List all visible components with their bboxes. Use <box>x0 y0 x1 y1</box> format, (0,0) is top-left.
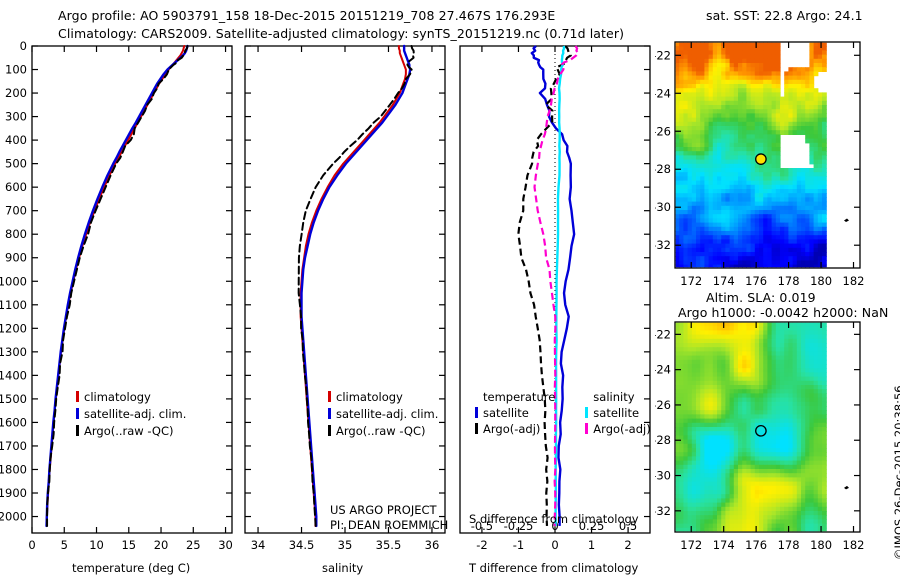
legend-item-climatology: climatology <box>76 390 186 404</box>
svg-text:1400: 1400 <box>0 368 27 382</box>
svg-text:15: 15 <box>121 538 136 552</box>
credit-pi: PI: DEAN ROEMMICH <box>330 518 448 532</box>
svg-text:1: 1 <box>588 538 595 552</box>
svg-text:0: 0 <box>551 538 558 552</box>
svg-text:100: 100 <box>5 63 27 77</box>
temperature-panel: 0100200300400500600700800900100011001200… <box>0 0 240 580</box>
sst-map-plot[interactable]: 172174176178180182-22-24-26-28-30-32 <box>655 0 900 290</box>
svg-text:1900: 1900 <box>0 486 27 500</box>
legend-swatch-sal-satellite <box>585 407 588 418</box>
svg-text:1700: 1700 <box>0 439 27 453</box>
svg-text:1300: 1300 <box>0 345 27 359</box>
legend-item-temp-satellite: satellite <box>475 406 555 420</box>
difference-axis-label-bottom: T difference from climatology <box>469 561 638 575</box>
salinity-axis-label: salinity <box>322 561 363 575</box>
svg-text:30: 30 <box>218 538 233 552</box>
credit-project: US ARGO PROJECT <box>330 503 448 517</box>
svg-text:400: 400 <box>5 133 27 147</box>
legend-swatch-climatology <box>76 391 79 402</box>
svg-text:34.5: 34.5 <box>289 538 315 552</box>
legend-group-title-salinity: salinity <box>593 390 650 404</box>
credit-block: US ARGO PROJECT PI: DEAN ROEMMICH <box>330 503 448 532</box>
legend-swatch-argo-raw-sal <box>328 425 331 436</box>
sla-map-plot[interactable]: 172174176178180182-22-24-26-28-30-32 <box>655 280 900 580</box>
svg-text:900: 900 <box>5 251 27 265</box>
legend-swatch-argo-raw <box>76 425 79 436</box>
svg-text:2: 2 <box>624 538 631 552</box>
svg-text:172: 172 <box>680 538 702 552</box>
legend-item-argo-raw: Argo(..raw -QC) <box>76 424 186 438</box>
svg-text:-24: -24 <box>655 86 671 100</box>
svg-text:-30: -30 <box>655 469 671 483</box>
temperature-axis-label: temperature (deg C) <box>72 561 190 575</box>
svg-text:5: 5 <box>61 538 68 552</box>
svg-text:35.5: 35.5 <box>376 538 402 552</box>
svg-text:-32: -32 <box>655 238 671 252</box>
temperature-legend: climatology satellite-adj. clim. Argo(..… <box>76 390 186 438</box>
difference-axis-label-top: S difference from climatology <box>469 512 639 526</box>
svg-text:1600: 1600 <box>0 415 27 429</box>
sst-map-panel: 172174176178180182-22-24-26-28-30-32 <box>655 0 900 290</box>
svg-text:500: 500 <box>5 157 27 171</box>
legend-item-sal-satellite: satellite <box>585 406 650 420</box>
svg-text:1500: 1500 <box>0 392 27 406</box>
svg-text:2000: 2000 <box>0 510 27 524</box>
svg-text:182: 182 <box>843 538 865 552</box>
svg-text:-30: -30 <box>655 200 671 214</box>
legend-swatch-temp-satellite <box>475 407 478 418</box>
legend-item-argo-raw-sal: Argo(..raw -QC) <box>328 424 438 438</box>
svg-text:800: 800 <box>5 227 27 241</box>
svg-text:-24: -24 <box>655 363 671 377</box>
difference-panel: -2-1012-0.5-0.2500.250.5 <box>455 0 660 580</box>
legend-group-title-temperature: temperature <box>483 390 555 404</box>
salinity-legend: climatology satellite-adj. clim. Argo(..… <box>328 390 438 438</box>
svg-text:-2: -2 <box>476 538 487 552</box>
legend-swatch-temp-argo <box>475 423 478 434</box>
difference-legend: temperature satellite Argo(-adj) salinit… <box>475 390 651 436</box>
salinity-panel: 3434.53535.536 <box>240 0 455 580</box>
svg-text:1800: 1800 <box>0 462 27 476</box>
legend-item-satellite-adj-sal: satellite-adj. clim. <box>328 407 438 421</box>
svg-text:1000: 1000 <box>0 274 27 288</box>
svg-text:0: 0 <box>20 39 27 53</box>
legend-group-salinity: salinity satellite Argo(-adj) <box>585 390 650 436</box>
legend-item-temp-argo: Argo(-adj) <box>475 422 555 436</box>
svg-text:10: 10 <box>89 538 104 552</box>
svg-text:-32: -32 <box>655 504 671 518</box>
svg-text:20: 20 <box>154 538 169 552</box>
svg-text:0: 0 <box>28 538 35 552</box>
legend-swatch-satellite-adj-sal <box>328 408 331 419</box>
legend-swatch-satellite-adj <box>76 408 79 419</box>
svg-text:-28: -28 <box>655 162 671 176</box>
legend-group-temperature: temperature satellite Argo(-adj) <box>475 390 555 436</box>
svg-text:-22: -22 <box>655 48 671 62</box>
svg-text:-26: -26 <box>655 124 671 138</box>
legend-swatch-sal-argo <box>585 423 588 434</box>
svg-text:176: 176 <box>745 538 767 552</box>
svg-text:600: 600 <box>5 180 27 194</box>
svg-text:35: 35 <box>338 538 353 552</box>
svg-text:200: 200 <box>5 86 27 100</box>
svg-text:174: 174 <box>713 538 735 552</box>
sla-map-panel: 172174176178180182-22-24-26-28-30-32 <box>655 280 900 580</box>
svg-text:178: 178 <box>778 538 800 552</box>
svg-text:1200: 1200 <box>0 321 27 335</box>
svg-text:700: 700 <box>5 204 27 218</box>
legend-item-satellite-adj: satellite-adj. clim. <box>76 407 186 421</box>
svg-text:180: 180 <box>810 538 832 552</box>
svg-text:-26: -26 <box>655 398 671 412</box>
svg-text:34: 34 <box>251 538 266 552</box>
difference-plot[interactable]: -2-1012-0.5-0.2500.250.5 <box>455 0 660 580</box>
svg-text:-1: -1 <box>513 538 524 552</box>
svg-text:36: 36 <box>425 538 440 552</box>
legend-item-climatology-sal: climatology <box>328 390 438 404</box>
svg-text:-28: -28 <box>655 433 671 447</box>
svg-text:300: 300 <box>5 110 27 124</box>
salinity-plot[interactable]: 3434.53535.536 <box>240 0 455 580</box>
legend-item-sal-argo: Argo(-adj) <box>585 422 650 436</box>
imos-credit: ©IMOS 26-Dec-2015 20:38:56 <box>892 385 900 560</box>
temperature-plot[interactable]: 0100200300400500600700800900100011001200… <box>0 0 240 580</box>
svg-text:-22: -22 <box>655 327 671 341</box>
legend-swatch-climatology-sal <box>328 391 331 402</box>
svg-text:25: 25 <box>186 538 201 552</box>
svg-text:1100: 1100 <box>0 298 27 312</box>
